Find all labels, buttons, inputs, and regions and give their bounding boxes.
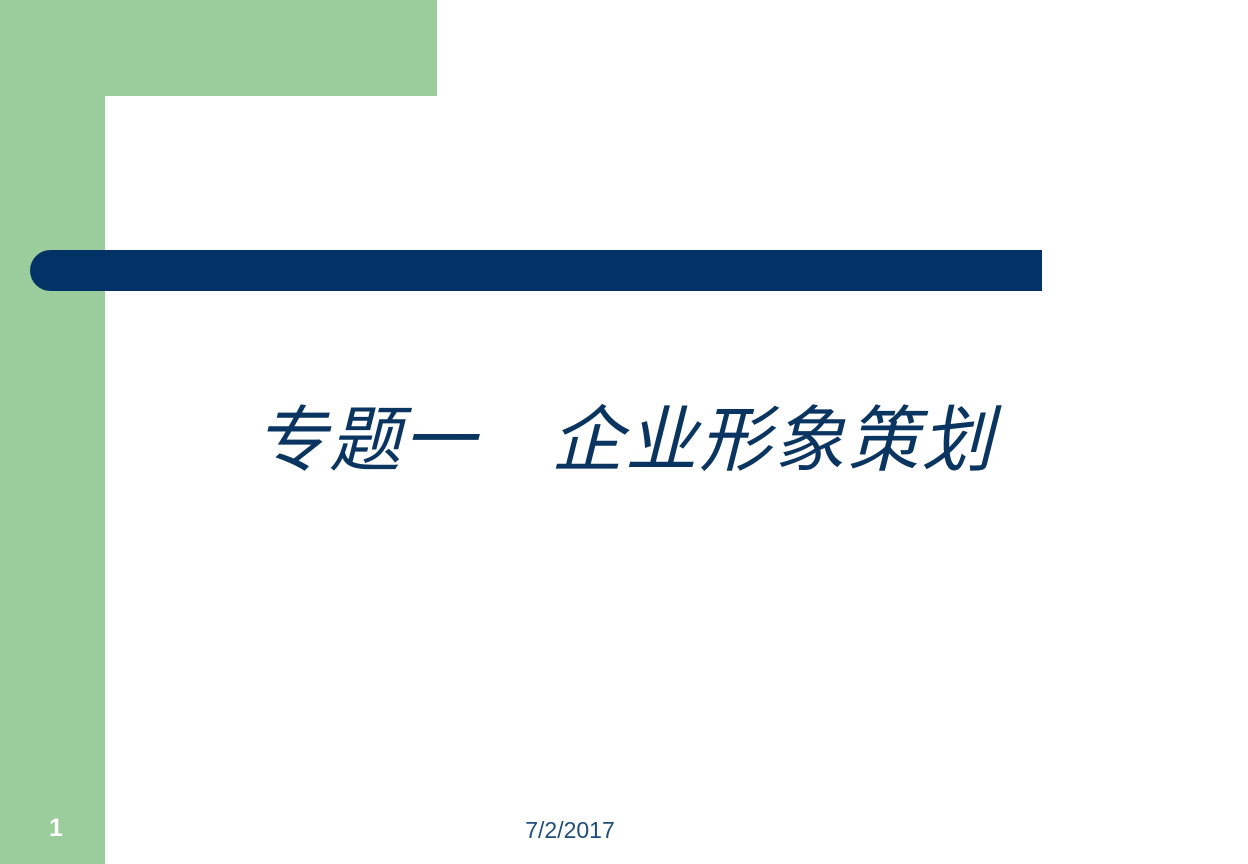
green-left-band-shape	[0, 0, 105, 864]
slide-title: 专题一 企业形象策划	[255, 398, 995, 483]
slide-number: 1	[34, 812, 78, 844]
slide-title-block: 专题一 企业形象策划	[105, 398, 1145, 483]
footer-date: 7/2/2017	[440, 816, 700, 844]
presentation-slide: 专题一 企业形象策划 1 7/2/2017	[0, 0, 1248, 864]
navy-divider-bar-shape	[30, 250, 1042, 291]
